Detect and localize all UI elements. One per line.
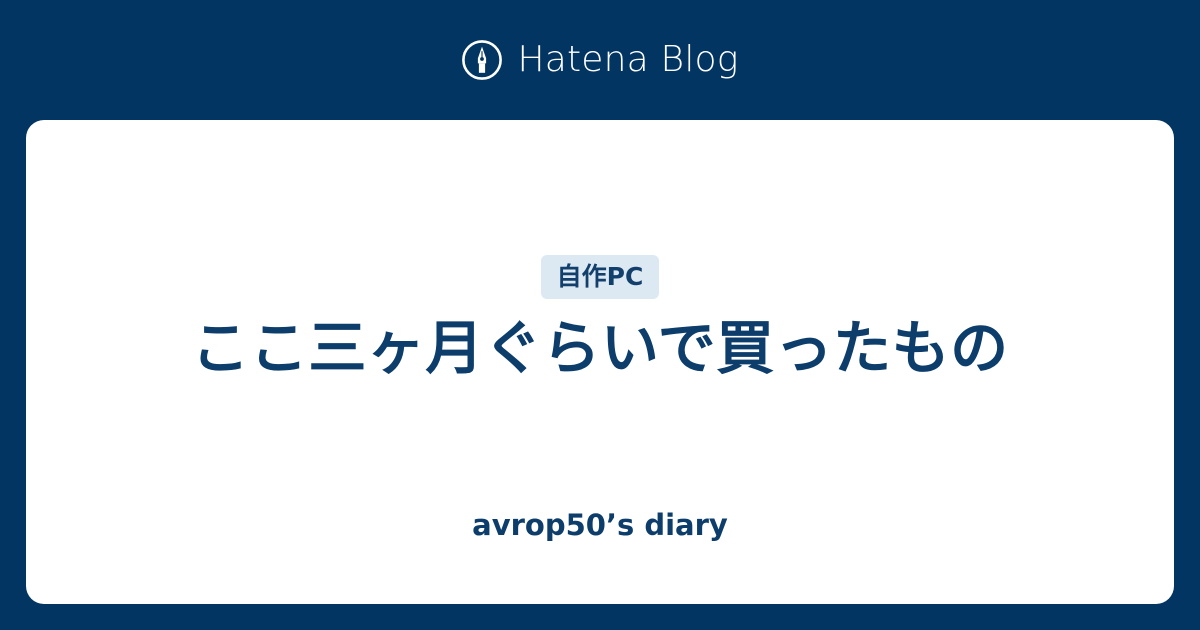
blog-name-row: avrop50’s diary bbox=[26, 508, 1174, 543]
entry-card: 自作PC ここ三ヶ月ぐらいで買ったもの avrop50’s diary bbox=[26, 120, 1174, 604]
blog-name-label: avrop50’s diary bbox=[472, 508, 728, 543]
entry-title: ここ三ヶ月ぐらいで買ったもの bbox=[191, 312, 1008, 385]
entry-title-row: ここ三ヶ月ぐらいで買ったもの bbox=[26, 312, 1174, 385]
category-badge[interactable]: 自作PC bbox=[541, 255, 660, 299]
brand-name-label: Hatena Blog bbox=[517, 42, 738, 78]
category-badge-row: 自作PC bbox=[26, 255, 1174, 299]
ogp-card-canvas: Hatena Blog 自作PC ここ三ヶ月ぐらいで買ったもの avrop50’… bbox=[0, 0, 1200, 630]
brand-header: Hatena Blog bbox=[0, 0, 1200, 120]
hatena-pen-nib-icon bbox=[461, 39, 503, 81]
